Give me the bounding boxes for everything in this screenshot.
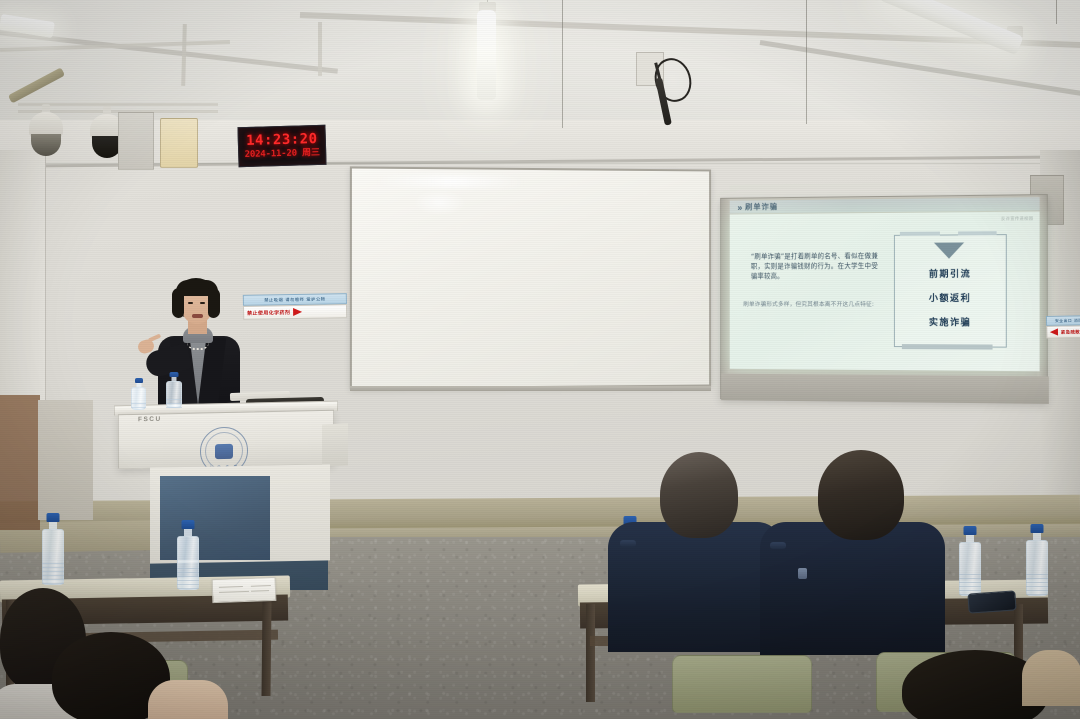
right-sign-blue-text: 安全出口 消防通道	[1046, 315, 1080, 326]
water-bottle	[177, 520, 199, 590]
paper-line	[251, 590, 269, 592]
slide-paragraph-secondary: 刷单诈骗形式多样，但究其根本离不开这几点特征:	[743, 301, 880, 310]
slide-paragraph: “刷单诈骗”是打着刷单的名号、看似在做兼职，实则是诈骗钱财的行为。在大学生中受骗…	[751, 251, 878, 282]
lectern-brand: FSCU	[138, 416, 162, 423]
officer-front-left	[608, 452, 783, 652]
classroom-photo: 14:23:20 2024-11-20 周三 » 刷单诈骗 反诈宣传进校园 “刷…	[0, 0, 1080, 719]
lectern-side	[322, 423, 348, 466]
wall-plate	[118, 112, 154, 170]
student-shoulder	[148, 680, 228, 719]
right-sign-white: 紧急疏散	[1046, 325, 1080, 339]
bottle-neck	[966, 535, 974, 542]
ceiling-beam	[318, 22, 322, 76]
water-bottle	[131, 378, 146, 410]
slide-step-3: 实施诈骗	[894, 315, 1007, 328]
ceiling-tube-light-1	[477, 10, 496, 100]
slide-title: 刷单诈骗	[745, 201, 778, 212]
officer-uniform	[760, 522, 945, 655]
screen-rail	[721, 199, 730, 401]
triangle-down-icon	[934, 242, 964, 258]
light-cable	[1056, 0, 1057, 24]
wall-speaker	[160, 118, 198, 168]
water-bottle	[42, 513, 64, 585]
left-door	[0, 395, 40, 530]
chevron-right-icon: »	[737, 202, 740, 212]
whiteboard-glare	[374, 175, 526, 188]
whiteboard	[350, 166, 711, 389]
slide-step-1: 前期引流	[894, 267, 1007, 280]
slide-frame-accent	[900, 232, 940, 236]
left-sign-white: 禁止使用化学药剂	[243, 304, 347, 320]
lecturer-hair-side	[208, 288, 220, 318]
led-wall-clock: 14:23:20 2024-11-20 周三	[237, 125, 326, 167]
right-sign-text: 紧急疏散	[1061, 328, 1080, 335]
bottle-neck	[1033, 533, 1041, 540]
uniform-epaulette	[620, 540, 636, 547]
water-bottle	[166, 372, 182, 408]
slide-corner-tag: 反诈宣传进校园	[1001, 216, 1033, 222]
student-shoulder	[1022, 650, 1080, 706]
bottle-cap	[1031, 524, 1044, 533]
bottle-neck	[184, 529, 192, 536]
slide-frame-accent	[902, 344, 993, 350]
projection-screen: » 刷单诈骗 反诈宣传进校园 “刷单诈骗”是打着刷单的名号、看似在做兼职，实则是…	[720, 194, 1048, 403]
uniform-epaulette	[770, 542, 786, 549]
smartphone-on-desk	[967, 590, 1016, 613]
desk-leg	[586, 604, 595, 702]
bottle-ribs	[1026, 574, 1048, 596]
printed-documents	[212, 577, 277, 603]
lecturer-mouth	[192, 314, 203, 318]
bottle-cap	[182, 520, 195, 529]
left-door-frame	[38, 400, 93, 520]
bottle-neck	[49, 522, 57, 529]
student-bottom-right	[902, 650, 1074, 719]
slide-frame-accent	[958, 231, 997, 235]
clock-date: 2024-11-20 周三	[245, 149, 320, 160]
clock-time: 14:23:20	[246, 132, 318, 148]
bottle-ribs	[42, 563, 64, 585]
paper-line	[251, 585, 271, 587]
bottle-cap	[47, 513, 60, 522]
presentation-slide: 反诈宣传进校园 “刷单诈骗”是打着刷单的名号、看似在做兼职，实则是诈骗钱财的行为…	[730, 211, 1040, 371]
lecturer	[140, 278, 250, 408]
officer-front-right	[760, 450, 945, 655]
paper-line	[219, 586, 243, 588]
officer-head	[818, 450, 904, 540]
slide-step-2: 小额返利	[894, 291, 1007, 304]
officer-head	[660, 452, 738, 538]
water-bottle	[959, 526, 981, 596]
left-sign-text: 禁止使用化学药剂	[247, 309, 290, 317]
uniform-insignia	[798, 568, 807, 579]
whiteboard-tray	[350, 386, 711, 391]
desk-leg	[261, 600, 271, 696]
bottle-ribs	[131, 403, 146, 410]
right-wall-sign: 安全出口 消防通道 紧急疏散	[1046, 315, 1080, 338]
light-cable	[806, 0, 807, 124]
bottle-ribs	[177, 568, 199, 590]
water-bottle	[1026, 524, 1048, 596]
classroom-chair	[672, 655, 812, 713]
screen-bottom-band	[721, 374, 1049, 404]
light-cable	[562, 0, 563, 128]
student-bottom-left	[52, 632, 222, 719]
lecturer-finger	[148, 334, 162, 343]
whiteboard-glare	[413, 189, 466, 215]
arrow-left-icon	[1050, 328, 1058, 335]
arrow-right-icon	[293, 308, 302, 316]
bottle-cap	[964, 526, 977, 535]
left-wall-sign: 禁止吸烟 请勿喧哗 爱护公物 禁止使用化学药剂	[243, 293, 347, 320]
lecturer-hair-side	[172, 288, 184, 318]
paper-line	[219, 591, 249, 593]
bottle-ribs	[166, 399, 182, 408]
emblem-core-icon	[215, 443, 233, 458]
